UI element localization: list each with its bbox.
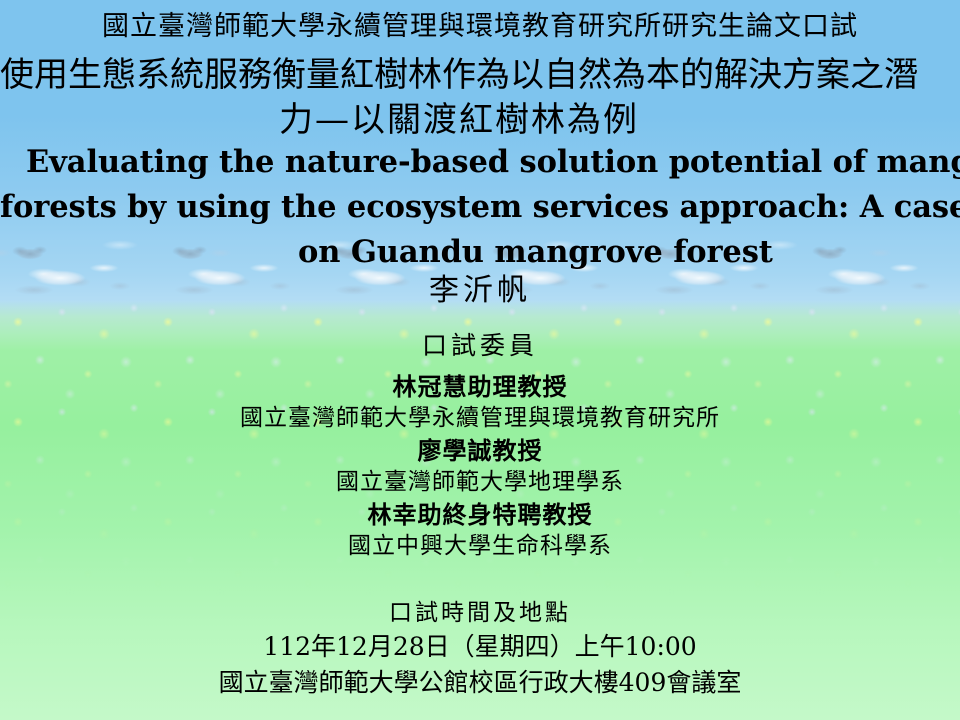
slide-content: 國立臺灣師範大學永續管理與環境教育研究所研究生論文口試 使用生態系統服務衡量紅樹…: [0, 0, 960, 720]
committee-member: 廖學誠教授 國立臺灣師範大學地理學系: [0, 435, 960, 498]
defense-venue: 國立臺灣師範大學公館校區行政大樓409會議室: [0, 665, 960, 701]
event-header: 國立臺灣師範大學永續管理與環境教育研究所研究生論文口試: [0, 10, 960, 44]
logistics-heading: 口試時間及地點: [0, 598, 960, 629]
chinese-title: 使用生態系統服務衡量紅樹林作為以自然為本的解決方案之潛 力—以關渡紅樹林為例: [0, 53, 918, 143]
committee-list: 林冠慧助理教授 國立臺灣師範大學永續管理與環境教育研究所 廖學誠教授 國立臺灣師…: [0, 371, 960, 562]
committee-member-name: 林幸助終身特聘教授: [0, 499, 960, 530]
presentation-slide: 國立臺灣師範大學永續管理與環境教育研究所研究生論文口試 使用生態系統服務衡量紅樹…: [0, 0, 960, 720]
author-name: 李沂帆: [0, 272, 960, 310]
english-title-line-3: on Guandu mangrove forest: [0, 230, 960, 275]
committee-member: 林冠慧助理教授 國立臺灣師範大學永續管理與環境教育研究所: [0, 371, 960, 434]
committee-member: 林幸助終身特聘教授 國立中興大學生命科學系: [0, 499, 960, 562]
defense-logistics: 口試時間及地點 112年12月28日（星期四）上午10:00 國立臺灣師範大學公…: [0, 598, 960, 701]
chinese-title-line-2: 力—以關渡紅樹林為例: [0, 98, 918, 143]
committee-heading: 口試委員: [0, 330, 960, 362]
english-title-line-2: forests by using the ecosystem services …: [0, 185, 960, 230]
english-title-line-1: Evaluating the nature-based solution pot…: [0, 140, 960, 185]
chinese-title-line-1: 使用生態系統服務衡量紅樹林作為以自然為本的解決方案之潛: [0, 53, 918, 98]
defense-datetime: 112年12月28日（星期四）上午10:00: [0, 629, 960, 665]
committee-member-affiliation: 國立臺灣師範大學永續管理與環境教育研究所: [0, 402, 960, 434]
committee-member-affiliation: 國立臺灣師範大學地理學系: [0, 466, 960, 498]
english-title: Evaluating the nature-based solution pot…: [0, 140, 960, 275]
committee-member-affiliation: 國立中興大學生命科學系: [0, 530, 960, 562]
committee-member-name: 廖學誠教授: [0, 435, 960, 466]
committee-member-name: 林冠慧助理教授: [0, 371, 960, 402]
